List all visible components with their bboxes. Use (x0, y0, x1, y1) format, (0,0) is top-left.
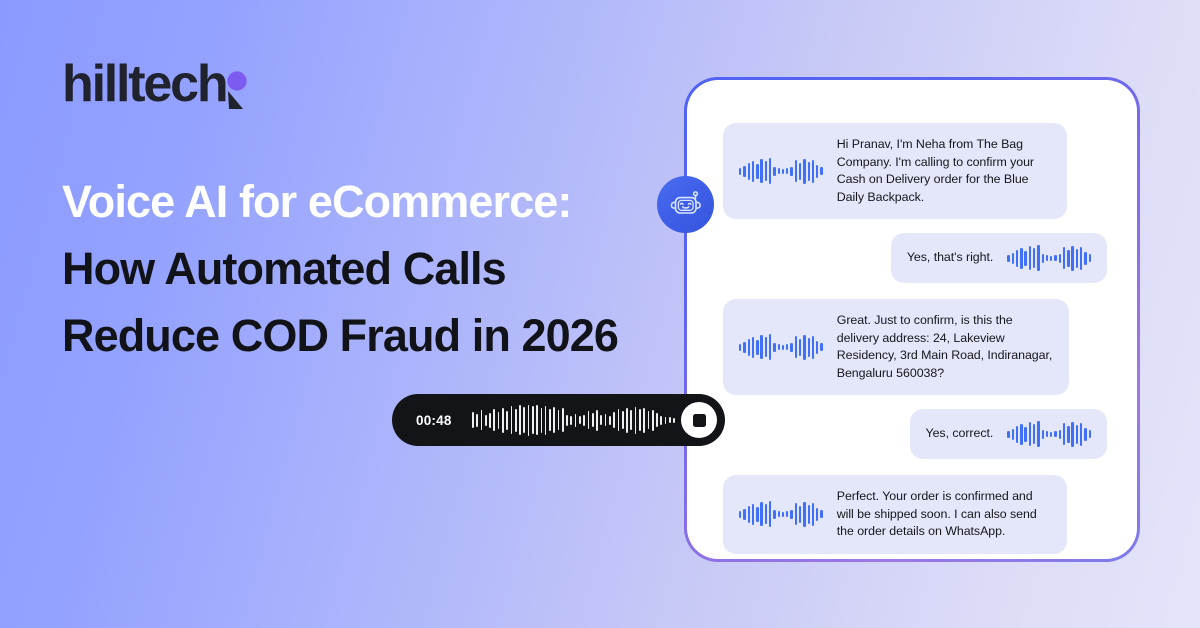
chat-row: Great. Just to confirm, is this the deli… (723, 299, 1107, 395)
headline-line-1: Voice AI for eCommerce: (62, 168, 682, 235)
chat-row: Hi Pranav, I'm Neha from The Bag Company… (723, 123, 1107, 219)
chat-message-list: Hi Pranav, I'm Neha from The Bag Company… (723, 123, 1107, 559)
headline: Voice AI for eCommerce: How Automated Ca… (62, 168, 682, 369)
chat-bubble-user[interactable]: Yes, that's right. (891, 233, 1107, 283)
chat-row: Yes, that's right. (723, 233, 1107, 283)
chat-bubble-bot[interactable]: Perfect. Your order is confirmed and wil… (723, 475, 1067, 554)
voice-waveform-icon (739, 500, 823, 528)
voice-waveform-icon (1007, 244, 1091, 272)
chat-row: Yes, correct. (723, 409, 1107, 459)
stop-icon (693, 414, 706, 427)
chat-bubble-bot[interactable]: Hi Pranav, I'm Neha from The Bag Company… (723, 123, 1067, 219)
stop-button[interactable] (681, 402, 717, 438)
headline-line-2: How Automated Calls (62, 235, 682, 302)
chat-card: Hi Pranav, I'm Neha from The Bag Company… (684, 77, 1140, 562)
voice-waveform-icon (739, 157, 823, 185)
audio-player[interactable]: 00:48 (392, 394, 725, 446)
logo-k-mark (226, 58, 256, 110)
chat-card-inner: Hi Pranav, I'm Neha from The Bag Company… (687, 80, 1137, 559)
robot-avatar-icon (657, 176, 714, 233)
chat-bubble-bot[interactable]: Great. Just to confirm, is this the deli… (723, 299, 1069, 395)
chat-bubble-user[interactable]: Yes, correct. (910, 409, 1108, 459)
chat-bubble-text: Yes, correct. (926, 425, 994, 443)
brand-logo: hilltech (62, 58, 256, 110)
chat-bubble-text: Hi Pranav, I'm Neha from The Bag Company… (837, 136, 1051, 206)
player-waveform-icon[interactable] (472, 403, 675, 437)
headline-line-3: Reduce COD Fraud in 2026 (62, 302, 682, 369)
chat-bubble-text: Perfect. Your order is confirmed and wil… (837, 488, 1051, 541)
chat-bubble-text: Great. Just to confirm, is this the deli… (837, 312, 1053, 382)
voice-waveform-icon (739, 333, 823, 361)
voice-waveform-icon (1007, 420, 1091, 448)
brand-logo-text: hilltech (62, 58, 226, 110)
player-elapsed-time: 00:48 (416, 413, 464, 428)
chat-row: Perfect. Your order is confirmed and wil… (723, 475, 1107, 554)
chat-bubble-text: Yes, that's right. (907, 249, 993, 267)
